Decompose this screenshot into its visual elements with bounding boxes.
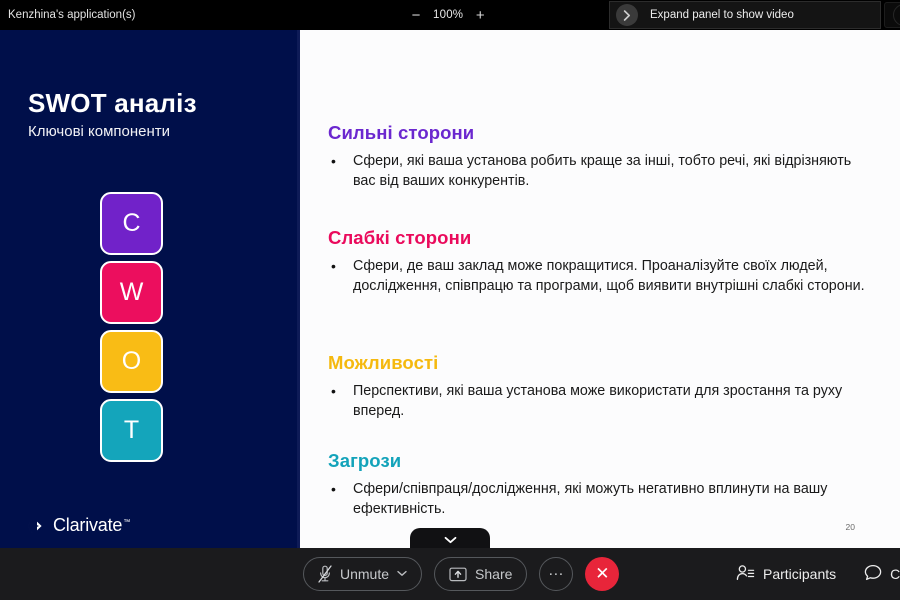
zoom-in-button[interactable]: + bbox=[472, 7, 488, 23]
participants-button[interactable]: Participants bbox=[736, 557, 836, 591]
meeting-controls-right: Participants Ch bbox=[736, 557, 900, 591]
swot-letter-tiles: C W O T bbox=[100, 192, 163, 468]
slide-panel-divider bbox=[297, 30, 300, 548]
collapse-toolbar-tab[interactable] bbox=[410, 528, 490, 548]
slide-page-number: 20 bbox=[846, 522, 855, 532]
chevron-right-icon bbox=[616, 4, 638, 26]
participants-label: Participants bbox=[763, 566, 836, 582]
chevron-down-icon[interactable] bbox=[397, 569, 407, 580]
clarivate-logo: Clarivate™ bbox=[28, 515, 130, 548]
bullet-marker: • bbox=[328, 479, 353, 519]
zoom-controls: − 100% + bbox=[408, 0, 488, 30]
clarivate-c-icon bbox=[28, 517, 46, 535]
more-options-button[interactable]: … bbox=[539, 557, 573, 591]
share-button[interactable]: Share bbox=[434, 557, 527, 591]
section-text-opportunities: Перспективи, які ваша установа може вико… bbox=[353, 381, 873, 421]
swot-tile-o: O bbox=[100, 330, 163, 393]
swot-tile-c-letter: C bbox=[122, 209, 140, 238]
slide-content: Сильні сторони • Сфери, які ваша установ… bbox=[328, 30, 873, 548]
section-body-strengths: • Сфери, які ваша установа робить краще … bbox=[328, 151, 873, 191]
section-heading-strengths: Сильні сторони bbox=[328, 122, 873, 144]
section-text-threats: Сфери/співпраця/дослідження, які можуть … bbox=[353, 479, 873, 519]
trademark-symbol: ™ bbox=[123, 519, 130, 526]
section-body-opportunities: • Перспективи, які ваша установа може ви… bbox=[328, 381, 873, 421]
section-text-weaknesses: Сфери, де ваш заклад може покращитися. П… bbox=[353, 256, 873, 296]
chat-button[interactable]: Ch bbox=[864, 557, 900, 591]
bullet-marker: • bbox=[328, 151, 353, 191]
section-heading-opportunities: Можливості bbox=[328, 352, 873, 374]
meeting-window: Kenzhina's application(s) − 100% + Expan… bbox=[0, 0, 900, 600]
clarivate-logo-word: Clarivate bbox=[53, 515, 122, 535]
swot-tile-t-letter: T bbox=[124, 416, 139, 445]
leave-meeting-button[interactable]: ✕ bbox=[585, 557, 619, 591]
clarivate-logo-text: Clarivate™ bbox=[53, 515, 130, 536]
swot-section-strengths: Сильні сторони • Сфери, які ваша установ… bbox=[328, 122, 873, 191]
expand-panel-button[interactable]: Expand panel to show video bbox=[609, 1, 881, 29]
share-screen-icon bbox=[449, 567, 467, 582]
section-body-weaknesses: • Сфери, де ваш заклад може покращитися.… bbox=[328, 256, 873, 296]
swot-tile-w: W bbox=[100, 261, 163, 324]
share-label: Share bbox=[475, 566, 512, 582]
chat-bubble-icon bbox=[864, 564, 882, 584]
section-heading-threats: Загрози bbox=[328, 450, 873, 472]
swot-tile-o-letter: O bbox=[122, 347, 141, 376]
swot-tile-t: T bbox=[100, 399, 163, 462]
unmute-button[interactable]: Unmute bbox=[303, 557, 422, 591]
swot-tile-w-letter: W bbox=[120, 278, 144, 307]
expand-panel-label: Expand panel to show video bbox=[650, 9, 794, 21]
zoom-out-button[interactable]: − bbox=[408, 7, 424, 23]
slide-title: SWOT аналіз bbox=[28, 88, 197, 119]
swot-tile-c: C bbox=[100, 192, 163, 255]
swot-section-weaknesses: Слабкі сторони • Сфери, де ваш заклад мо… bbox=[328, 227, 873, 296]
participants-icon bbox=[736, 564, 755, 584]
window-title: Kenzhina's application(s) bbox=[8, 0, 136, 30]
close-icon: ✕ bbox=[595, 564, 609, 584]
window-top-bar: Kenzhina's application(s) − 100% + Expan… bbox=[0, 0, 900, 30]
meeting-toolbar: Unmute Share … bbox=[0, 548, 900, 600]
chevron-down-icon bbox=[444, 531, 457, 548]
slide-subtitle: Ключові компоненти bbox=[28, 123, 170, 140]
unmute-label: Unmute bbox=[340, 566, 389, 582]
bullet-marker: • bbox=[328, 256, 353, 296]
section-text-strengths: Сфери, які ваша установа робить краще за… bbox=[353, 151, 873, 191]
shared-slide[interactable]: SWOT аналіз Ключові компоненти C W O T C… bbox=[0, 30, 900, 548]
swot-section-threats: Загрози • Сфери/співпраця/дослідження, я… bbox=[328, 450, 873, 519]
chat-label: Ch bbox=[890, 566, 900, 582]
zoom-level-value: 100% bbox=[433, 9, 463, 21]
microphone-muted-icon bbox=[318, 565, 332, 583]
section-body-threats: • Сфери/співпраця/дослідження, які можут… bbox=[328, 479, 873, 519]
section-heading-weaknesses: Слабкі сторони bbox=[328, 227, 873, 249]
meeting-controls-center: Unmute Share … bbox=[303, 557, 619, 591]
swot-section-opportunities: Можливості • Перспективи, які ваша устан… bbox=[328, 352, 873, 421]
bullet-marker: • bbox=[328, 381, 353, 421]
